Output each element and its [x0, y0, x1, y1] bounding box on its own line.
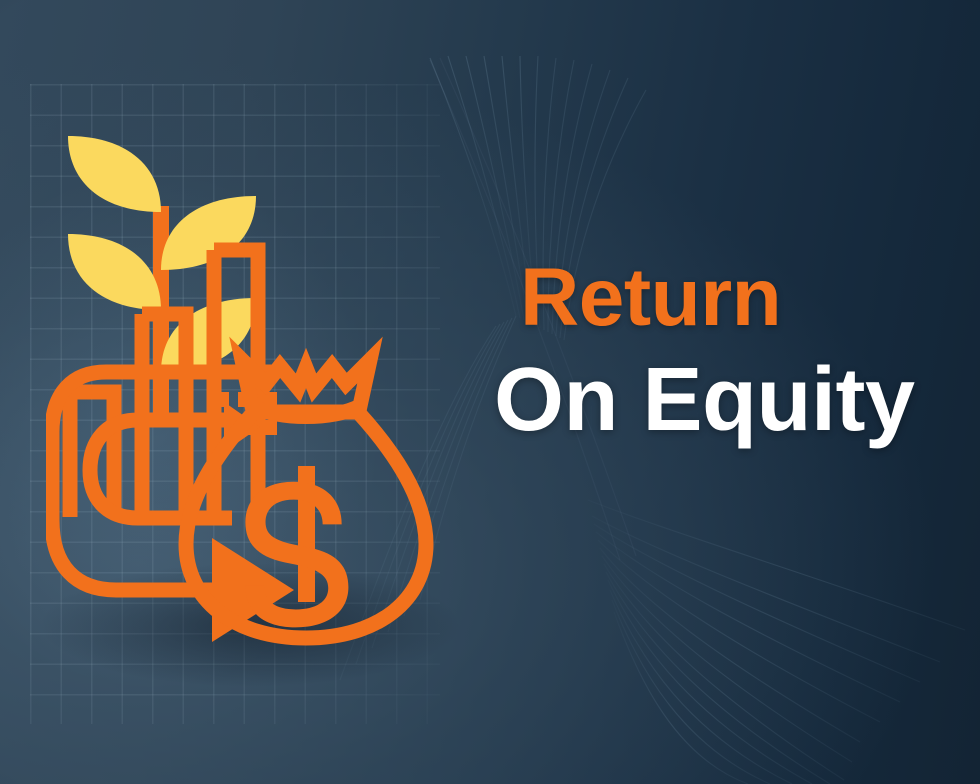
- return-on-equity-banner: Return On Equity: [0, 0, 980, 784]
- return-on-equity-icon: [46, 120, 446, 650]
- headline: Return On Equity: [520, 258, 950, 445]
- plant-leaf-1: [68, 136, 161, 212]
- headline-line-on-equity: On Equity: [494, 356, 950, 444]
- headline-line-return: Return: [520, 258, 950, 338]
